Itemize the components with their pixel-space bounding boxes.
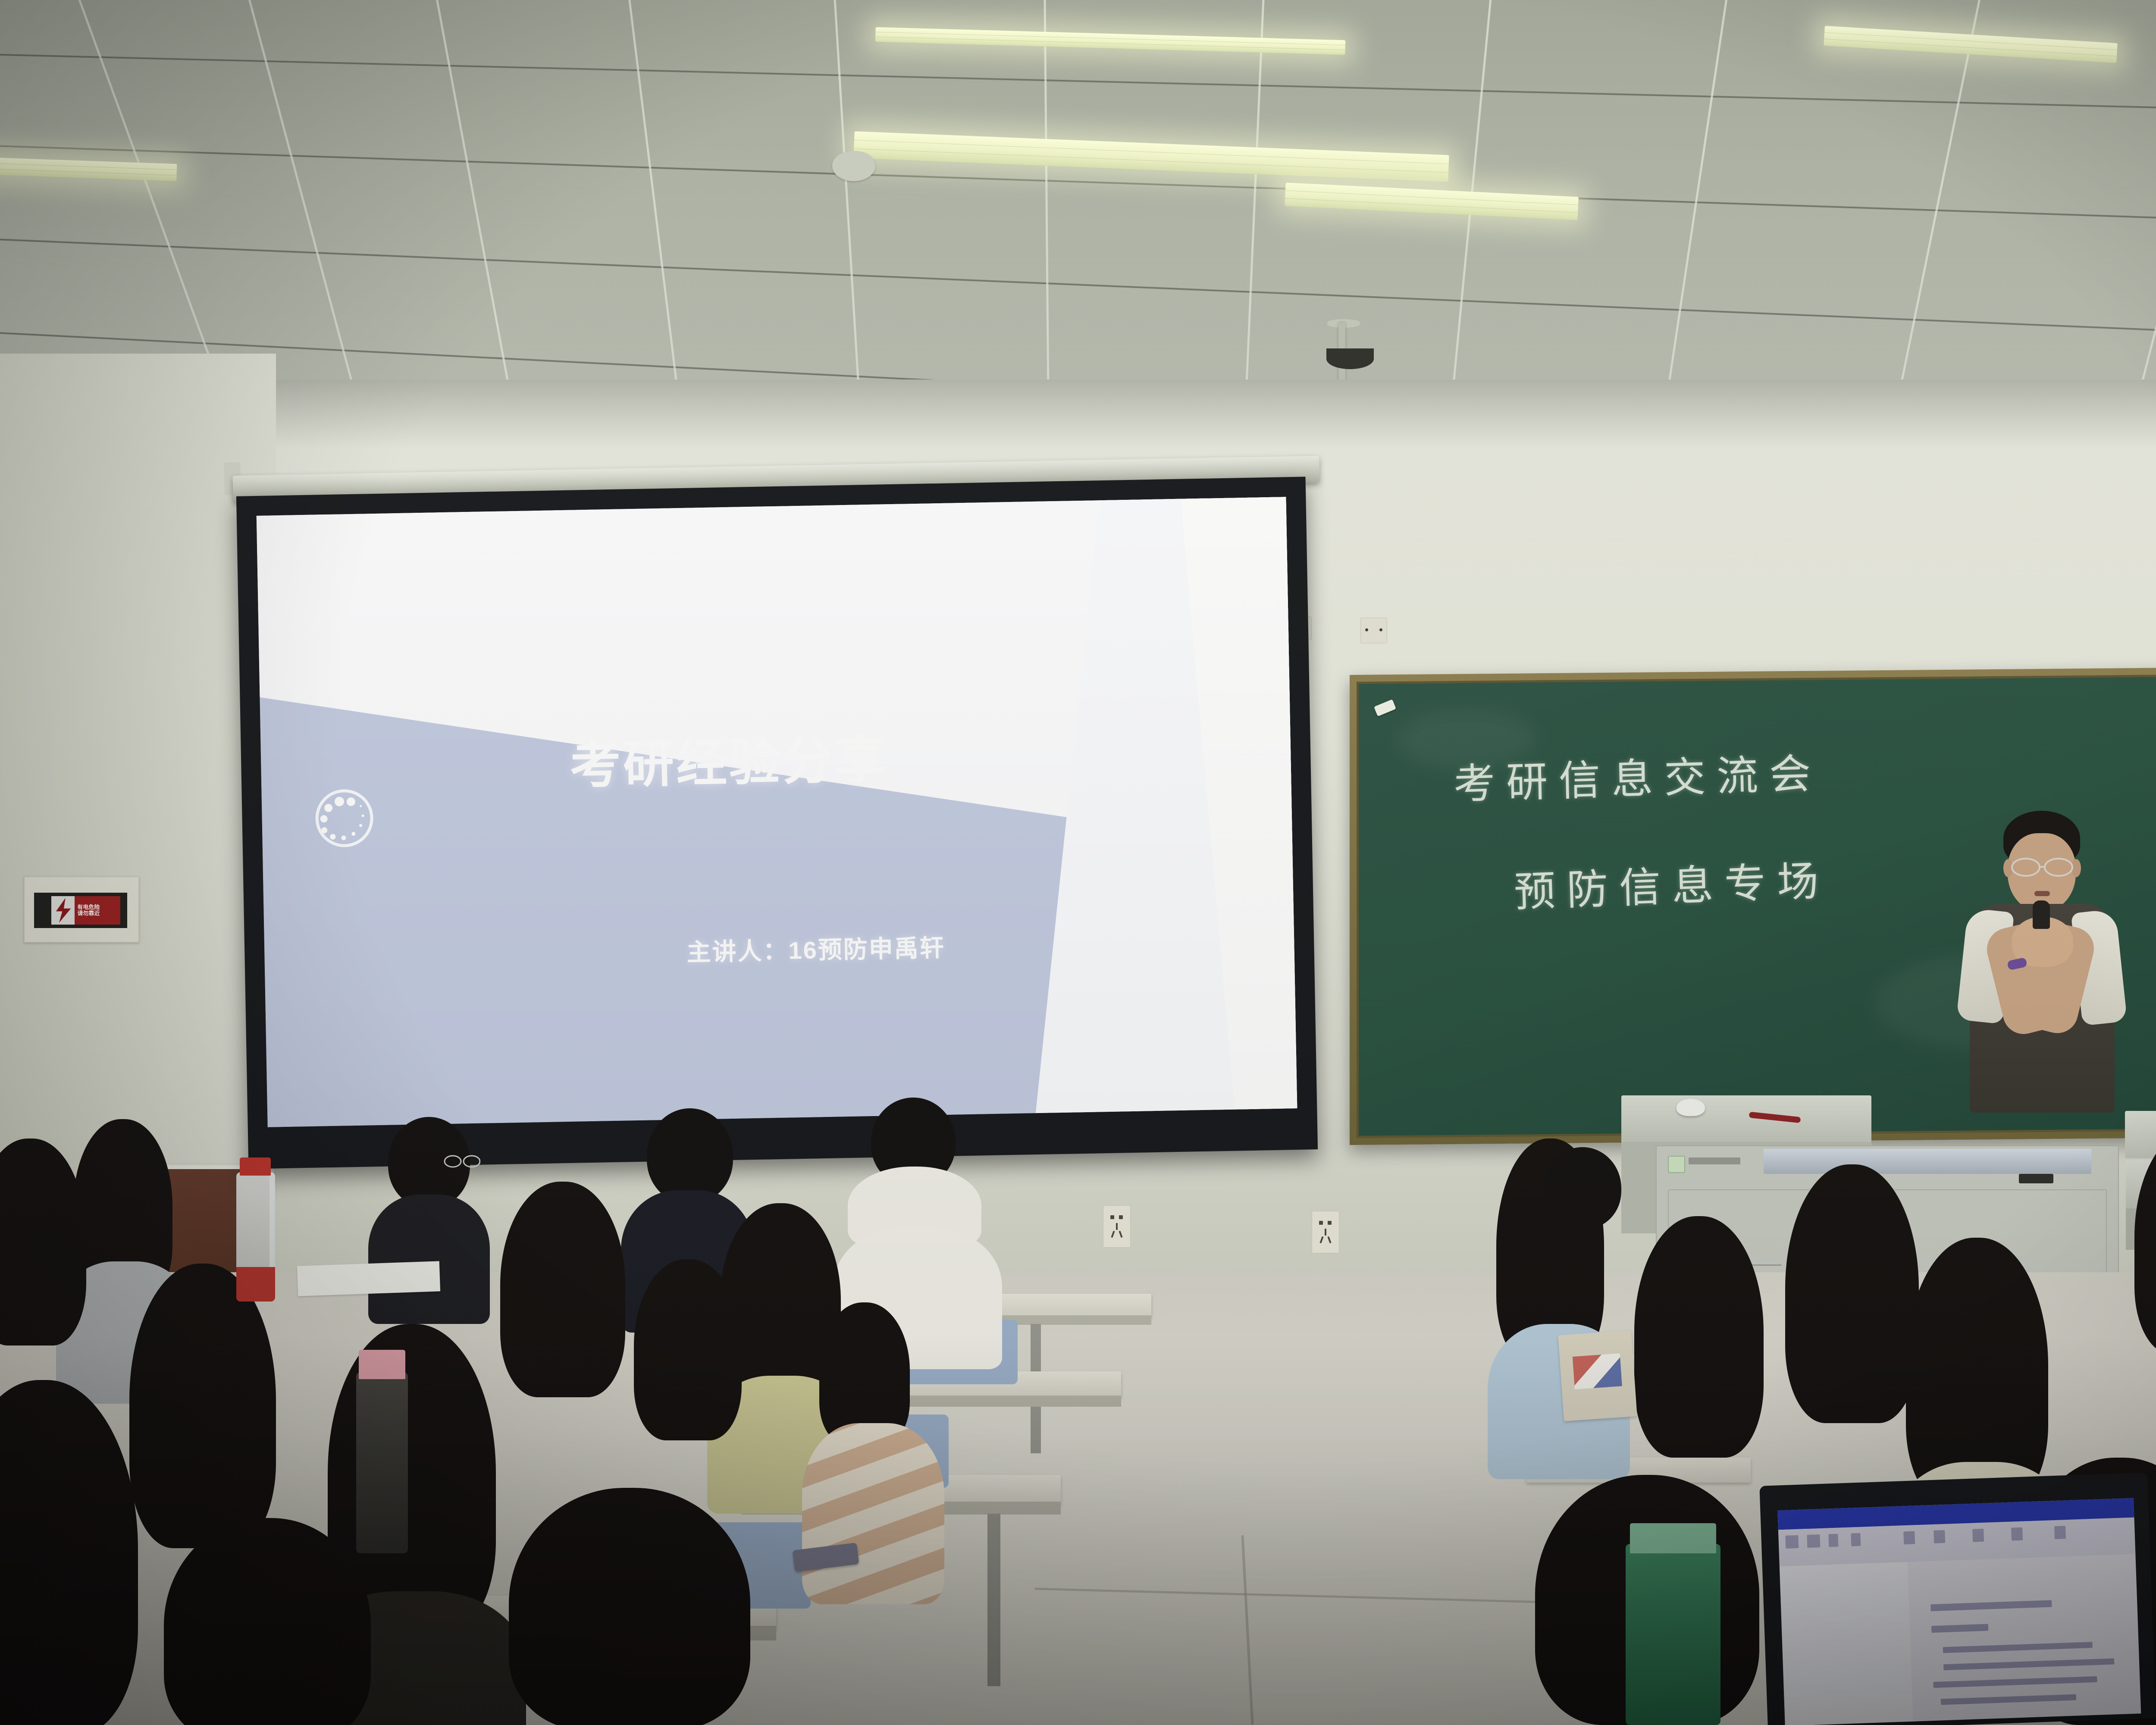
ceiling-dome-speaker — [1326, 348, 1374, 369]
screen-surface: 考研经验分享 主讲人：16预防申禹轩 — [257, 497, 1297, 1127]
dot-ring-icon — [315, 789, 374, 847]
cabinet-sticker — [1668, 1156, 1685, 1173]
fluorescent-tube-light — [1824, 26, 2118, 63]
podium-left-top — [1621, 1095, 1871, 1142]
fluorescent-tube-light — [875, 27, 1346, 55]
electrical-warning-sign: 有电危险 请勿靠近 — [24, 876, 139, 943]
slide-subtitle: 主讲人：16预防申禹轩 — [686, 928, 946, 968]
striped-sweater — [802, 1423, 944, 1604]
glasses-icon — [2008, 857, 2077, 877]
tote-bag — [1558, 1330, 1637, 1421]
fluorescent-tube-light — [0, 157, 177, 181]
bottle-label — [236, 1267, 275, 1302]
computer-mouse[interactable] — [1677, 1099, 1705, 1116]
glasses-icon — [443, 1154, 480, 1169]
desk-leg — [987, 1514, 1000, 1686]
blackboard-line-1: 考研信息交流会 — [1453, 740, 1823, 811]
blackboard-line-2: 预防信息专场 — [1513, 847, 1830, 919]
wall-top-shadow — [0, 379, 2156, 448]
laptop-sidebar[interactable] — [1780, 1562, 1913, 1725]
fluorescent-tube-light — [1285, 182, 1579, 220]
thermos-green[interactable] — [1626, 1544, 1720, 1725]
laptop-screen[interactable] — [1777, 1498, 2141, 1725]
wall-bracket-plate — [1360, 618, 1387, 643]
lightning-bolt-icon — [51, 896, 75, 925]
power-outlet[interactable] — [1312, 1211, 1339, 1253]
chalk-piece — [1374, 699, 1396, 716]
podium-front-rail — [1764, 1149, 2091, 1174]
warning-line-2: 请勿靠近 — [75, 910, 119, 916]
power-outlet[interactable] — [1103, 1205, 1131, 1248]
warning-line-1: 有电危险 — [75, 904, 119, 910]
podium-right-top — [2125, 1111, 2156, 1158]
thermos-cap — [1630, 1523, 1716, 1553]
fluorescent-tube-light — [853, 131, 1449, 182]
flag-print — [1573, 1353, 1622, 1389]
classroom-photo-scene: 有电危险 请勿靠近 — [0, 0, 2156, 1725]
presentation-slide: 考研经验分享 主讲人：16预防申禹轩 — [257, 497, 1297, 1127]
cabinet-display — [2019, 1174, 2053, 1183]
cabinet-brand-label — [1689, 1157, 1740, 1164]
speaker: C — [1927, 811, 2152, 1113]
thermos-pink-cap[interactable] — [356, 1372, 408, 1553]
bottle-cap — [240, 1157, 271, 1176]
microphone-icon — [2033, 900, 2050, 929]
ceiling — [0, 0, 2156, 423]
smoke-detector-icon — [832, 151, 875, 181]
notebook — [297, 1261, 440, 1296]
projection-screen[interactable]: 考研经验分享 主讲人：16预防申禹轩 — [236, 477, 1318, 1169]
laptop[interactable] — [1759, 1472, 2156, 1725]
thermos-cap — [359, 1350, 405, 1379]
slide-title: 考研经验分享 — [569, 718, 889, 798]
